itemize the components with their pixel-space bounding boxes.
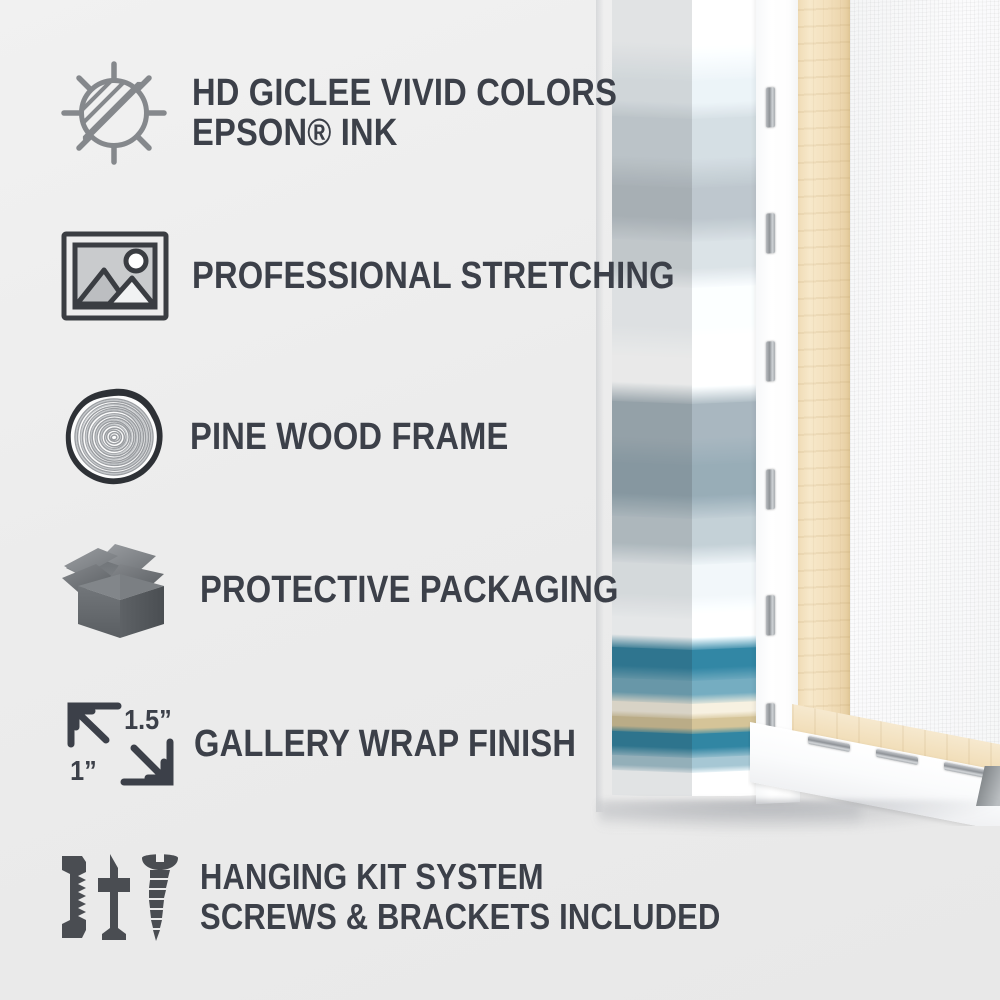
artwork-band bbox=[692, 116, 760, 190]
artwork-band bbox=[692, 562, 760, 621]
artwork-band bbox=[692, 355, 760, 406]
artwork-band bbox=[692, 516, 760, 567]
staple bbox=[766, 341, 775, 381]
artwork-band bbox=[692, 0, 760, 83]
staple bbox=[766, 469, 775, 509]
corner-arrows-depth-icon: 1.5” 1” bbox=[62, 696, 180, 792]
feature-label-pine: PINE WOOD FRAME bbox=[190, 417, 508, 457]
feature-label-giclee: HD GICLEE VIVID COLORS EPSON® INK bbox=[192, 73, 617, 154]
feature-line: PROTECTIVE PACKAGING bbox=[200, 570, 619, 610]
feature-label-hanging-kit: HANGING KIT SYSTEM SCREWS & BRACKETS INC… bbox=[200, 857, 720, 938]
feature-line: HD GICLEE VIVID COLORS bbox=[192, 73, 617, 113]
product-infographic: HD GICLEE VIVID COLORS EPSON® INK PROFES… bbox=[0, 0, 1000, 1000]
canvas-edge-strip bbox=[756, 0, 800, 804]
feature-line: PINE WOOD FRAME bbox=[190, 417, 508, 457]
feature-line: EPSON® INK bbox=[192, 113, 617, 153]
artwork-band bbox=[692, 78, 760, 121]
feature-line: HANGING KIT SYSTEM bbox=[200, 857, 720, 897]
tree-rings-icon bbox=[62, 386, 168, 488]
feature-label-packaging: PROTECTIVE PACKAGING bbox=[200, 570, 619, 610]
artwork-band bbox=[692, 401, 760, 467]
feature-label-gallery-wrap: GALLERY WRAP FINISH bbox=[194, 724, 576, 764]
feature-line: GALLERY WRAP FINISH bbox=[194, 724, 576, 764]
feature-line: PROFESSIONAL STRETCHING bbox=[192, 256, 675, 296]
wood-grain-texture bbox=[798, 0, 852, 782]
feature-label-stretching: PROFESSIONAL STRETCHING bbox=[192, 256, 675, 296]
sun-hatched-icon bbox=[58, 58, 170, 168]
staple bbox=[766, 595, 775, 635]
feature-item-stretching: PROFESSIONAL STRETCHING bbox=[60, 230, 753, 322]
feature-list: HD GICLEE VIVID COLORS EPSON® INK PROFES… bbox=[0, 0, 680, 1000]
open-box-icon bbox=[60, 534, 178, 646]
artwork-band bbox=[692, 462, 760, 521]
feature-item-hanging-kit: HANGING KIT SYSTEM SCREWS & BRACKETS INC… bbox=[56, 850, 805, 944]
framed-picture-icon bbox=[60, 230, 170, 322]
hanging-hardware-icon bbox=[56, 850, 184, 944]
staple bbox=[766, 213, 775, 253]
feature-item-packaging: PROTECTIVE PACKAGING bbox=[60, 534, 687, 646]
artwork-side-plane bbox=[692, 0, 760, 796]
feature-item-giclee: HD GICLEE VIVID COLORS EPSON® INK bbox=[58, 58, 686, 168]
canvas-back-fabric bbox=[850, 0, 1000, 760]
staple bbox=[766, 87, 775, 127]
feature-item-gallery-wrap: 1.5” 1” GALLERY WRAP FINISH bbox=[62, 696, 638, 792]
pine-stretcher-bar-vertical bbox=[798, 0, 852, 782]
depth-label-bottom: 1” bbox=[70, 755, 97, 787]
depth-label-top: 1.5” bbox=[124, 704, 172, 736]
feature-item-pine: PINE WOOD FRAME bbox=[62, 386, 560, 488]
feature-line: SCREWS & BRACKETS INCLUDED bbox=[200, 897, 720, 937]
